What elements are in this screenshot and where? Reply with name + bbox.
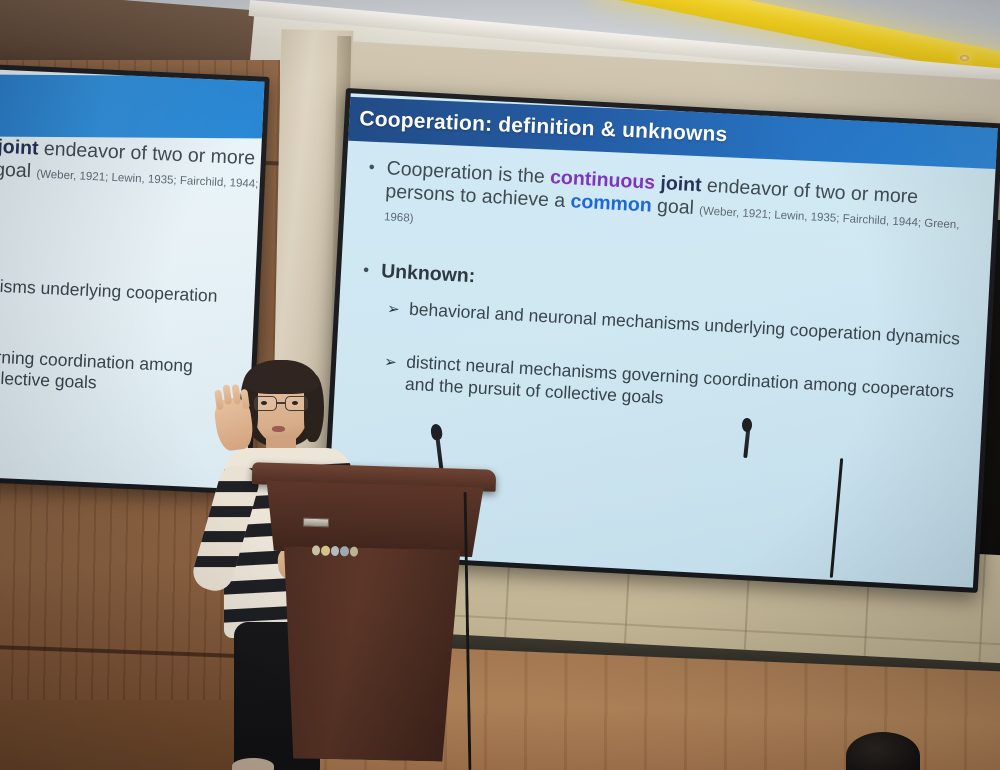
arrow-icon: ➢ xyxy=(387,298,410,319)
bullet-1: • Cooperation is the continuous joint en… xyxy=(366,156,981,258)
shoe xyxy=(232,758,274,770)
bullet-2-heading: Unknown: xyxy=(380,260,475,288)
eye-left xyxy=(261,401,267,405)
podium-emblem xyxy=(321,546,330,556)
left-sub-bullet-2-text: distinct neural mechanisms governing coo… xyxy=(0,335,193,398)
arrow-icon: ➢ xyxy=(384,351,407,372)
finger xyxy=(222,384,232,405)
podium-column xyxy=(270,546,470,762)
left-bullet-2: • Unknown: xyxy=(0,227,264,278)
bullet-1-seg-3: goal xyxy=(651,195,700,220)
podium-emblem xyxy=(312,545,321,555)
gooseneck-microphone-icon-2 xyxy=(742,418,752,432)
sub-bullet-2-text: distinct neural mechanisms governing coo… xyxy=(405,352,970,425)
podium-emblem xyxy=(340,546,349,556)
finger xyxy=(232,384,242,405)
glasses-bridge xyxy=(277,402,285,404)
glasses-icon xyxy=(253,396,311,411)
raised-hand xyxy=(213,396,256,453)
presentation-scene: • Cooperation is the continuous joint en… xyxy=(0,0,1000,770)
sub-bullet-2: ➢ distinct neural mechanisms governing c… xyxy=(383,351,970,425)
bullet-1-text: Cooperation is the continuous joint ende… xyxy=(384,157,981,258)
keyword-common: common xyxy=(570,190,652,216)
podium-emblem xyxy=(349,546,358,556)
keyword-joint: joint xyxy=(660,172,702,196)
podium-emblem xyxy=(331,546,340,556)
page-title: Cooperation: definition & unknowns xyxy=(359,107,728,147)
slide-content: • Cooperation is the continuous joint en… xyxy=(357,156,981,425)
mouth xyxy=(272,426,285,432)
left-bullet-1: • Cooperation is the continuous joint en… xyxy=(0,122,264,219)
bullet-marker: • xyxy=(363,259,382,281)
left-bullet-1-text: Cooperation is the continuous joint ende… xyxy=(0,123,264,218)
eye-right xyxy=(292,401,298,405)
podium-front-upper xyxy=(255,480,493,557)
podium-nameplate xyxy=(303,518,329,528)
downlight-3 xyxy=(960,55,969,61)
bullet-marker: • xyxy=(368,156,387,178)
finger xyxy=(214,389,224,410)
hair-fringe xyxy=(243,360,319,394)
left-sub-bullet-1-text: behavioral and neuronal mechanisms under… xyxy=(0,264,218,328)
podium-emblem-row xyxy=(312,545,358,557)
